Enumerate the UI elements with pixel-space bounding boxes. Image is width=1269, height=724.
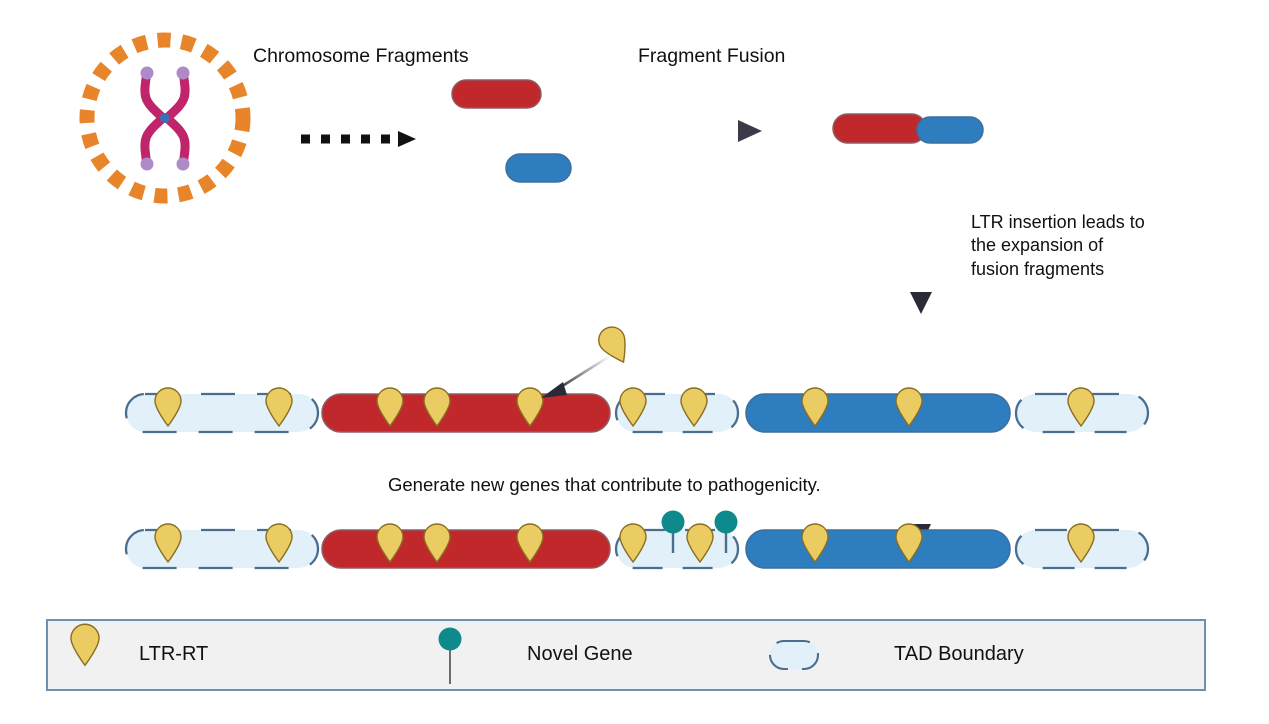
legend-graphics-layer [0, 0, 1269, 724]
legend-label-novel-gene: Novel Gene [527, 643, 633, 666]
legend-label-tad-boundary: TAD Boundary [894, 643, 1024, 666]
figure-canvas: Chromosome Fragments Fragment Fusion LTR… [0, 0, 1269, 724]
legend-icon-novel-gene-pin [439, 628, 462, 685]
legend-icon-tad-boundary-capsule [770, 641, 818, 669]
legend-icon-ltr-rt-pin [71, 624, 99, 665]
legend-label-ltr-rt: LTR-RT [139, 643, 208, 666]
